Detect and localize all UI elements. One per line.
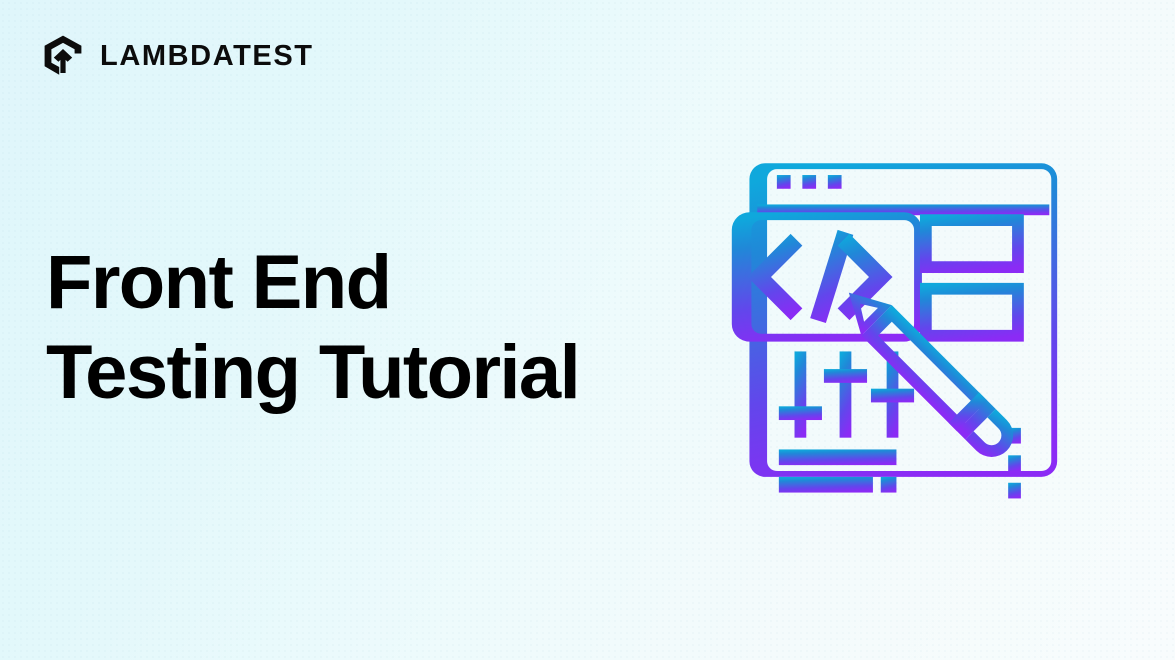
lambdatest-hexagon-arrow-icon — [40, 33, 86, 79]
lambdatest-wordmark: LAMBDATEST — [100, 42, 314, 71]
page-title-line-2: Testing Tutorial — [46, 328, 579, 418]
lambdatest-logo[interactable]: LAMBDATEST — [40, 33, 314, 79]
banner: LAMBDATEST Front End Testing Tutorial — [0, 0, 1175, 660]
window-dot-1 — [777, 175, 791, 189]
window-dot-2 — [802, 175, 816, 189]
page-title-line-1: Front End — [46, 238, 579, 328]
window-dot-3 — [828, 175, 842, 189]
page-title: Front End Testing Tutorial — [46, 238, 579, 417]
front-end-coding-illustration — [722, 128, 1114, 520]
